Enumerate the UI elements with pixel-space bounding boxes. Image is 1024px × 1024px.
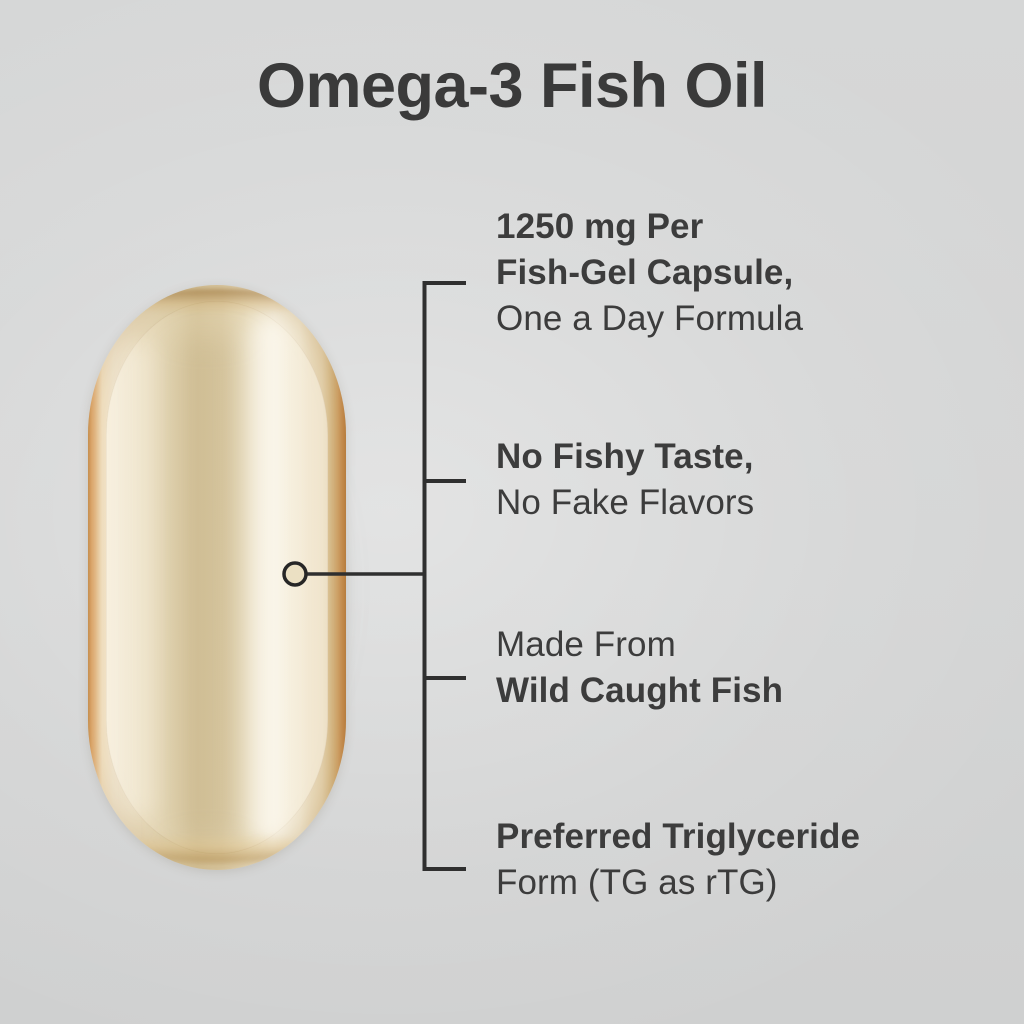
feature-source-line-1: Made From — [496, 622, 783, 668]
feature-form: Preferred Triglyceride Form (TG as rTG) — [496, 814, 860, 906]
feature-source: Made From Wild Caught Fish — [496, 622, 783, 714]
feature-dosage-line-2: Fish-Gel Capsule, — [496, 250, 803, 296]
softgel-capsule — [88, 285, 346, 870]
feature-taste-line-1: No Fishy Taste, — [496, 434, 754, 480]
capsule-specular-highlight — [238, 319, 300, 839]
feature-source-line-2: Wild Caught Fish — [496, 668, 783, 714]
product-infographic: Omega-3 Fish Oil — [0, 0, 1024, 1024]
feature-dosage: 1250 mg Per Fish-Gel Capsule, One a Day … — [496, 204, 803, 342]
capsule-left-highlight — [118, 345, 162, 815]
feature-form-line-1: Preferred Triglyceride — [496, 814, 860, 860]
capsule-bottom-seam — [128, 833, 308, 863]
capsule-left-rim-tint — [88, 305, 100, 845]
feature-dosage-line-1: 1250 mg Per — [496, 204, 803, 250]
capsule-right-rim-tint — [332, 315, 346, 835]
feature-taste-line-2: No Fake Flavors — [496, 480, 754, 526]
capsule-top-seam — [130, 289, 306, 315]
capsule-image — [74, 272, 364, 884]
feature-dosage-line-3: One a Day Formula — [496, 296, 803, 342]
page-title: Omega-3 Fish Oil — [0, 52, 1024, 120]
feature-form-line-2: Form (TG as rTG) — [496, 860, 860, 906]
feature-taste: No Fishy Taste, No Fake Flavors — [496, 434, 754, 526]
